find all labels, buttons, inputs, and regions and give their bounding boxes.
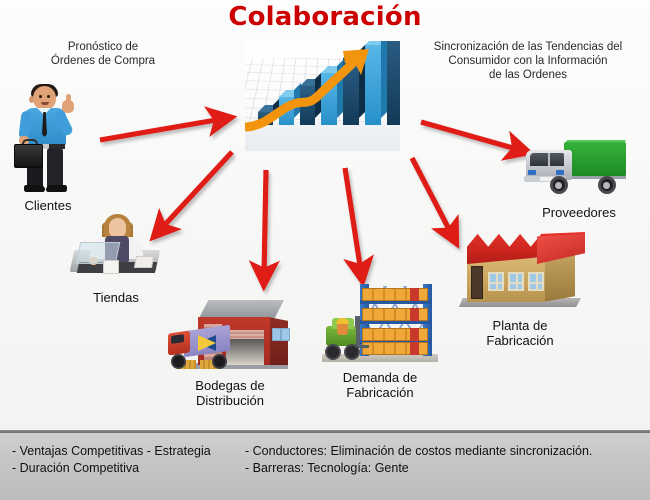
footer-panel: - Ventajas Competitivas - Estrategia - D… — [0, 433, 650, 500]
pallet-rack-forklift-icon — [322, 280, 438, 366]
footer-left-line2: - Duración Competitiva — [12, 460, 242, 477]
businessman-icon — [14, 84, 80, 192]
warehouse-truck-icon — [168, 300, 288, 376]
node-label-bodegas: Bodegas de Distribución — [162, 378, 298, 408]
arrow-chart-to-demanda — [345, 168, 361, 272]
node-label-planta-line2: Fabricación — [452, 333, 588, 348]
node-label-planta: Planta de Fabricación — [452, 318, 588, 348]
node-label-planta-line1: Planta de — [452, 318, 588, 333]
footer-column-right: - Conductores: Eliminación de costos med… — [245, 443, 645, 477]
node-label-tiendas: Tiendas — [68, 290, 164, 305]
arrow-chart-to-tiendas — [160, 152, 232, 230]
node-label-bodegas-line1: Bodegas de — [162, 378, 298, 393]
arrow-chart-to-bodegas — [264, 170, 266, 276]
node-label-clientes: Clientes — [0, 198, 96, 213]
delivery-box-truck-icon — [168, 326, 234, 370]
arrow-chart-to-proveedores — [421, 122, 520, 150]
cashier-checkout-icon — [72, 214, 158, 284]
footer-column-left: - Ventajas Competitivas - Estrategia - D… — [12, 443, 242, 477]
forklift-icon — [322, 318, 370, 358]
node-label-demanda-line2: Fabricación — [312, 385, 448, 400]
delivery-truck-icon — [520, 140, 630, 204]
factory-icon — [455, 232, 585, 320]
footer-right-line1: - Conductores: Eliminación de costos med… — [245, 443, 645, 460]
footer-left-line1: - Ventajas Competitivas - Estrategia — [12, 443, 242, 460]
footer-right-line2: - Barreras: Tecnología: Gente — [245, 460, 645, 477]
node-label-demanda: Demanda de Fabricación — [312, 370, 448, 400]
arrow-chart-to-planta — [412, 158, 452, 235]
collaboration-diagram: Colaboración Pronóstico de Órdenes de Co… — [0, 0, 650, 500]
node-label-bodegas-line2: Distribución — [162, 393, 298, 408]
node-label-demanda-line1: Demanda de — [312, 370, 448, 385]
arrow-clientes-to-chart — [100, 119, 222, 140]
node-label-proveedores: Proveedores — [524, 205, 634, 220]
